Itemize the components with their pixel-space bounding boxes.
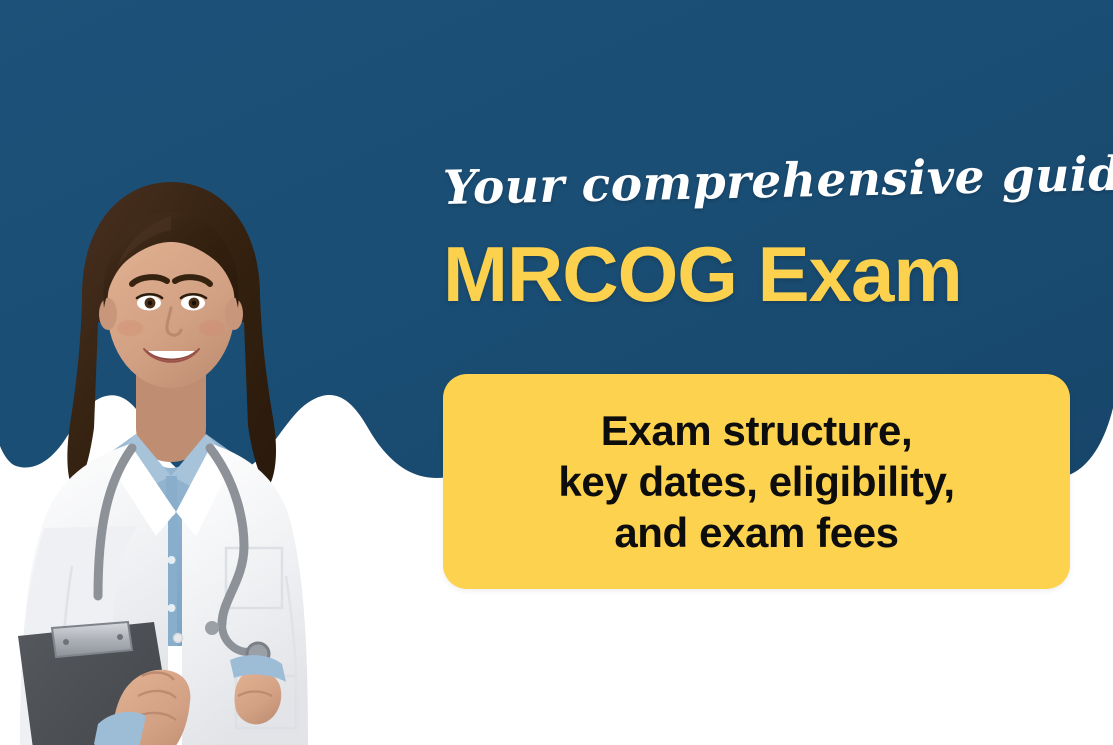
feature-card: Exam structure, key dates, eligibility, … bbox=[443, 374, 1070, 589]
headline-block: Your comprehensive guide to the MRCOG Ex… bbox=[443, 158, 1083, 316]
feature-line-1: Exam structure, bbox=[558, 405, 954, 456]
script-headline: Your comprehensive guide to the bbox=[442, 145, 1083, 220]
doctor-photo bbox=[0, 176, 346, 745]
feature-line-2: key dates, eligibility, bbox=[558, 456, 954, 507]
feature-card-text: Exam structure, key dates, eligibility, … bbox=[558, 405, 954, 558]
feature-line-3: and exam fees bbox=[558, 507, 954, 558]
page-title: MRCOG Exam bbox=[443, 232, 1083, 316]
promo-banner: Your comprehensive guide to the MRCOG Ex… bbox=[0, 0, 1113, 745]
